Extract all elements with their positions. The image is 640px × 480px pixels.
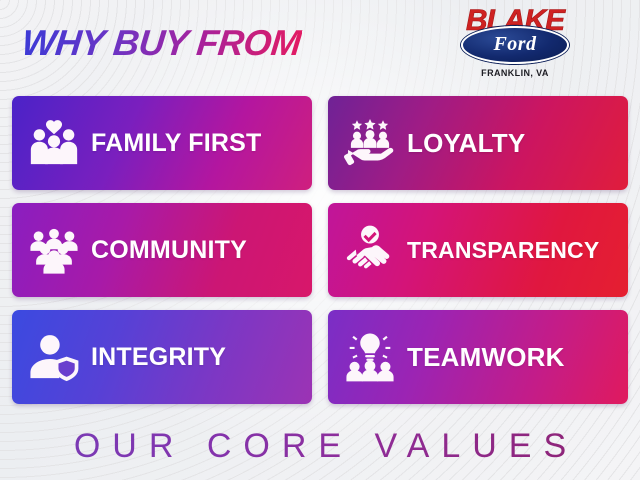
hand-people-stars-icon <box>344 117 396 169</box>
footer-tagline: OUR CORE VALUES <box>62 427 578 466</box>
value-card-label: INTEGRITY <box>91 343 226 372</box>
value-card-integrity[interactable]: INTEGRITY <box>12 310 312 404</box>
value-card-community[interactable]: COMMUNITY <box>12 203 312 297</box>
value-card-label: TRANSPARENCY <box>407 237 599 264</box>
logo-location-text: FRANKLIN, VA <box>435 68 595 78</box>
handshake-check-icon <box>344 224 396 276</box>
value-card-label: COMMUNITY <box>91 236 247 265</box>
footer: OUR CORE VALUES <box>0 412 640 480</box>
value-card-teamwork[interactable]: TEAMWORK <box>328 310 628 404</box>
value-card-label: LOYALTY <box>407 128 525 159</box>
logo-oval-text: Ford <box>493 34 536 54</box>
dealer-logo: BLAKE Ford FRANKLIN, VA <box>435 6 595 86</box>
ford-oval-icon: Ford <box>461 26 569 64</box>
value-card-family-first[interactable]: FAMILY FIRST <box>12 96 312 190</box>
poster-canvas: WHY BUY FROM BLAKE Ford FRANKLIN, VA <box>0 0 640 480</box>
lightbulb-people-icon <box>344 331 396 383</box>
value-card-transparency[interactable]: TRANSPARENCY <box>328 203 628 297</box>
header: WHY BUY FROM BLAKE Ford FRANKLIN, VA <box>0 0 640 92</box>
value-card-loyalty[interactable]: LOYALTY <box>328 96 628 190</box>
people-group-icon <box>28 224 80 276</box>
value-card-label: FAMILY FIRST <box>91 129 261 158</box>
person-shield-icon <box>28 331 80 383</box>
values-grid: FAMILY FIRST LOYALTY <box>12 96 628 404</box>
family-heart-icon <box>28 117 80 169</box>
page-title: WHY BUY FROM <box>20 22 303 64</box>
value-card-label: TEAMWORK <box>407 342 565 373</box>
